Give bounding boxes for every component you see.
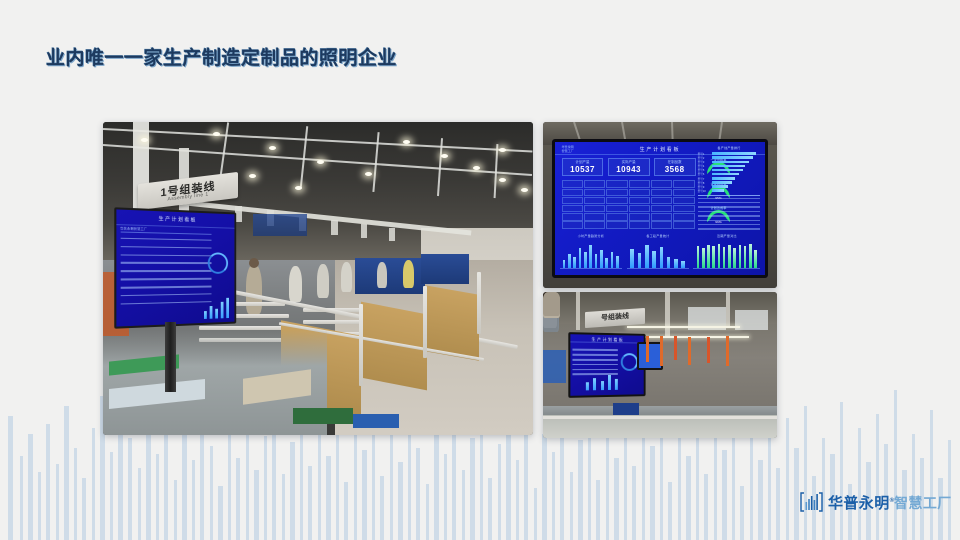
hbar — [712, 181, 731, 184]
ceiling-lamp — [295, 186, 302, 190]
grid-cell — [629, 180, 650, 187]
bar — [652, 251, 656, 269]
kpi-value: 10537 — [563, 165, 603, 174]
dashboard-screen: 华普永明智慧工厂 生产计划看板 计划产量 10537 实际产量 10943 在制… — [552, 139, 767, 278]
worker — [289, 266, 302, 302]
blue-equipment — [543, 350, 566, 382]
hbar — [712, 161, 749, 164]
kpi-value: 3568 — [655, 165, 695, 174]
grid-cell — [562, 213, 583, 220]
window — [735, 310, 768, 330]
bar — [723, 247, 726, 268]
column — [576, 292, 580, 330]
ceiling-lamp — [473, 166, 480, 170]
column — [726, 292, 730, 327]
bar — [605, 258, 608, 268]
factory-overview-photo: 1号组装线 Assembly line 1 华普永明智慧工厂 生产计划看板 — [103, 122, 533, 435]
hbar — [712, 173, 739, 176]
grid-cell — [606, 180, 627, 187]
grid-cell — [584, 205, 605, 212]
grid-cell — [629, 189, 650, 196]
grid-cell — [562, 205, 583, 212]
grid-cell — [629, 221, 650, 228]
bar — [630, 249, 634, 269]
hbar — [712, 169, 742, 172]
bar — [584, 252, 587, 268]
bar — [744, 246, 747, 268]
mid-chart-title: 各工段产量统计 — [627, 234, 690, 238]
table-row — [698, 215, 761, 216]
grid-cell — [651, 197, 672, 204]
line-tablet-terminal — [637, 342, 663, 370]
table-row — [698, 224, 761, 225]
grid-cell — [562, 221, 583, 228]
light-tube — [627, 326, 739, 328]
grid-cell — [606, 189, 627, 196]
ceiling-lamp — [441, 154, 448, 158]
table-header-rule — [698, 195, 761, 196]
bar — [638, 253, 642, 268]
dashboard-face: 生产计划看板 — [570, 334, 643, 396]
worker — [377, 262, 387, 288]
bar — [697, 246, 700, 268]
table-row — [698, 228, 761, 229]
grid-cell — [673, 180, 694, 187]
chart-axis — [560, 268, 623, 269]
safety-rail — [543, 416, 777, 419]
grid-cell — [606, 205, 627, 212]
bar — [681, 261, 685, 268]
bar — [573, 257, 576, 268]
bar — [728, 245, 731, 268]
grid-cell — [629, 213, 650, 220]
dashboard-monitor: 华普永明智慧工厂 生产计划看板 — [114, 207, 236, 329]
grid-cell — [673, 197, 694, 204]
kpi-card: 计划产量 10537 — [562, 158, 604, 177]
left-chart-title: 小时产量趋势分析 — [560, 234, 623, 238]
line-dashboard-monitor: 生产计划看板 — [568, 332, 645, 398]
bar — [595, 254, 598, 268]
bar — [645, 245, 649, 268]
table-row — [698, 220, 761, 221]
hbar — [712, 152, 756, 155]
grid-cell — [651, 221, 672, 228]
bar-chart-bracket-icon — [800, 492, 823, 512]
bar — [739, 245, 742, 268]
ceiling-lamp — [365, 172, 372, 176]
ceiling-lamp — [317, 160, 324, 164]
conveyor-hanger — [389, 228, 395, 241]
footer-logo: 华普永明 ® 智慧工厂 — [800, 489, 952, 515]
grid-cell — [651, 189, 672, 196]
bar — [600, 250, 603, 269]
ceiling-lamp — [249, 174, 256, 178]
table-row — [698, 202, 761, 203]
ceiling-lamp — [403, 140, 410, 144]
grid-cell — [584, 221, 605, 228]
bar — [660, 247, 664, 268]
blue-cabinet — [253, 214, 307, 236]
conveyor-hanger — [361, 224, 367, 238]
grid-cell — [673, 205, 694, 212]
table-row — [698, 211, 761, 212]
column — [665, 292, 670, 336]
right-chart-title: 近期产量对比 — [693, 234, 760, 238]
grid-cell — [562, 189, 583, 196]
grid-cell — [584, 189, 605, 196]
grid-cell — [606, 213, 627, 220]
brand-name: 华普永明 — [828, 492, 890, 513]
bar — [712, 246, 715, 268]
ceiling-lamp — [499, 178, 506, 182]
worker-head — [249, 258, 259, 268]
completion-donut — [208, 253, 228, 275]
kpi-card: 在制品数 3568 — [654, 158, 696, 177]
grid-cell — [673, 189, 694, 196]
hbar — [712, 156, 753, 159]
hbar — [712, 185, 728, 188]
table-row — [698, 198, 761, 199]
hbar-panel-title: 各产线产量排行 — [698, 146, 761, 150]
grid-cell — [673, 213, 694, 220]
worker — [403, 260, 414, 288]
grid-cell — [651, 205, 672, 212]
bar — [718, 244, 721, 268]
factory-scene: 1号组装线 Assembly line 1 华普永明智慧工厂 生产计划看板 — [103, 122, 533, 435]
grid-cell — [562, 180, 583, 187]
sub-brand-name: 智慧工厂 — [894, 493, 952, 513]
grid-cell — [584, 213, 605, 220]
ceiling-lamp — [141, 138, 148, 142]
grid-cell — [584, 197, 605, 204]
grid-cell — [651, 213, 672, 220]
hanging-tool — [674, 336, 677, 360]
bar — [667, 257, 671, 269]
bar — [579, 248, 582, 269]
dashboard-table-header — [120, 227, 211, 235]
bar — [702, 248, 705, 269]
assembly-line-photo: 号组装线 生产计划看板 — [543, 292, 777, 438]
dashboard-room: 华普永明智慧工厂 生产计划看板 计划产量 10537 实际产量 10943 在制… — [543, 122, 777, 288]
conveyor-hanger — [331, 220, 338, 235]
line-sign: 号组装线 — [585, 307, 645, 327]
worker — [246, 264, 262, 314]
line-scene: 号组装线 生产计划看板 — [543, 292, 777, 438]
sign-text: 号组装线 — [585, 309, 645, 323]
page-title: 业内唯一一家生产制造定制品的照明企业 — [46, 43, 397, 70]
bar — [563, 260, 566, 268]
hbar — [712, 165, 745, 168]
hanging-tool — [707, 337, 710, 363]
grid-cell — [629, 205, 650, 212]
bar — [749, 244, 752, 269]
table-row — [698, 206, 761, 207]
grid-cell — [562, 197, 583, 204]
blue-crate — [353, 414, 399, 428]
dashboard-title: 生产计划看板 — [570, 337, 643, 344]
registered-mark: ® — [890, 498, 894, 504]
bar — [707, 245, 710, 268]
worker-body — [543, 292, 560, 316]
grid-cell — [651, 180, 672, 187]
monitor-stand — [165, 322, 176, 392]
guard-post — [359, 304, 363, 386]
chart-axis — [627, 268, 690, 269]
chart-axis — [693, 268, 760, 269]
ceiling-lamp — [269, 146, 276, 150]
blue-cabinet — [421, 254, 469, 284]
hanging-tool — [660, 336, 663, 366]
kpi-card: 实际产量 10943 — [608, 158, 650, 177]
hanging-tool — [646, 336, 649, 362]
bar — [754, 250, 757, 269]
logo-wordmark: 华普永明 ® 智慧工厂 — [828, 492, 952, 513]
bar — [616, 256, 619, 268]
hbar-label: 型号10 — [698, 189, 706, 193]
guard-post — [423, 286, 427, 358]
completion-donut — [621, 353, 638, 371]
ceiling-lamp — [499, 148, 506, 152]
ceiling-lamp — [213, 132, 220, 136]
hanging-tool — [688, 337, 691, 365]
ceiling-lamp — [521, 188, 528, 192]
dashboard-face: 华普永明智慧工厂 生产计划看板 — [116, 209, 234, 326]
kpi-value: 10943 — [609, 165, 649, 174]
hbar — [712, 189, 724, 192]
guard-post — [477, 272, 481, 334]
grid-cell — [584, 180, 605, 187]
bar — [674, 259, 678, 269]
bar — [611, 252, 614, 269]
slide-canvas: 业内唯一一家生产制造定制品的照明企业 — [0, 0, 960, 540]
blue-cabinet — [355, 258, 425, 294]
production-dashboard-photo: 华普永明智慧工厂 生产计划看板 计划产量 10537 实际产量 10943 在制… — [543, 122, 777, 288]
hbar — [712, 177, 735, 180]
hanging-tool — [726, 336, 729, 366]
grid-cell — [606, 221, 627, 228]
grid-cell — [673, 221, 694, 228]
green-crate — [293, 408, 353, 424]
bar — [568, 254, 571, 269]
worker — [341, 262, 352, 292]
worker — [317, 264, 329, 298]
grid-cell — [606, 197, 627, 204]
dashboard-face: 华普永明智慧工厂 生产计划看板 计划产量 10537 实际产量 10943 在制… — [555, 142, 764, 275]
bar — [733, 248, 736, 268]
grid-cell — [629, 197, 650, 204]
bar — [589, 245, 592, 268]
